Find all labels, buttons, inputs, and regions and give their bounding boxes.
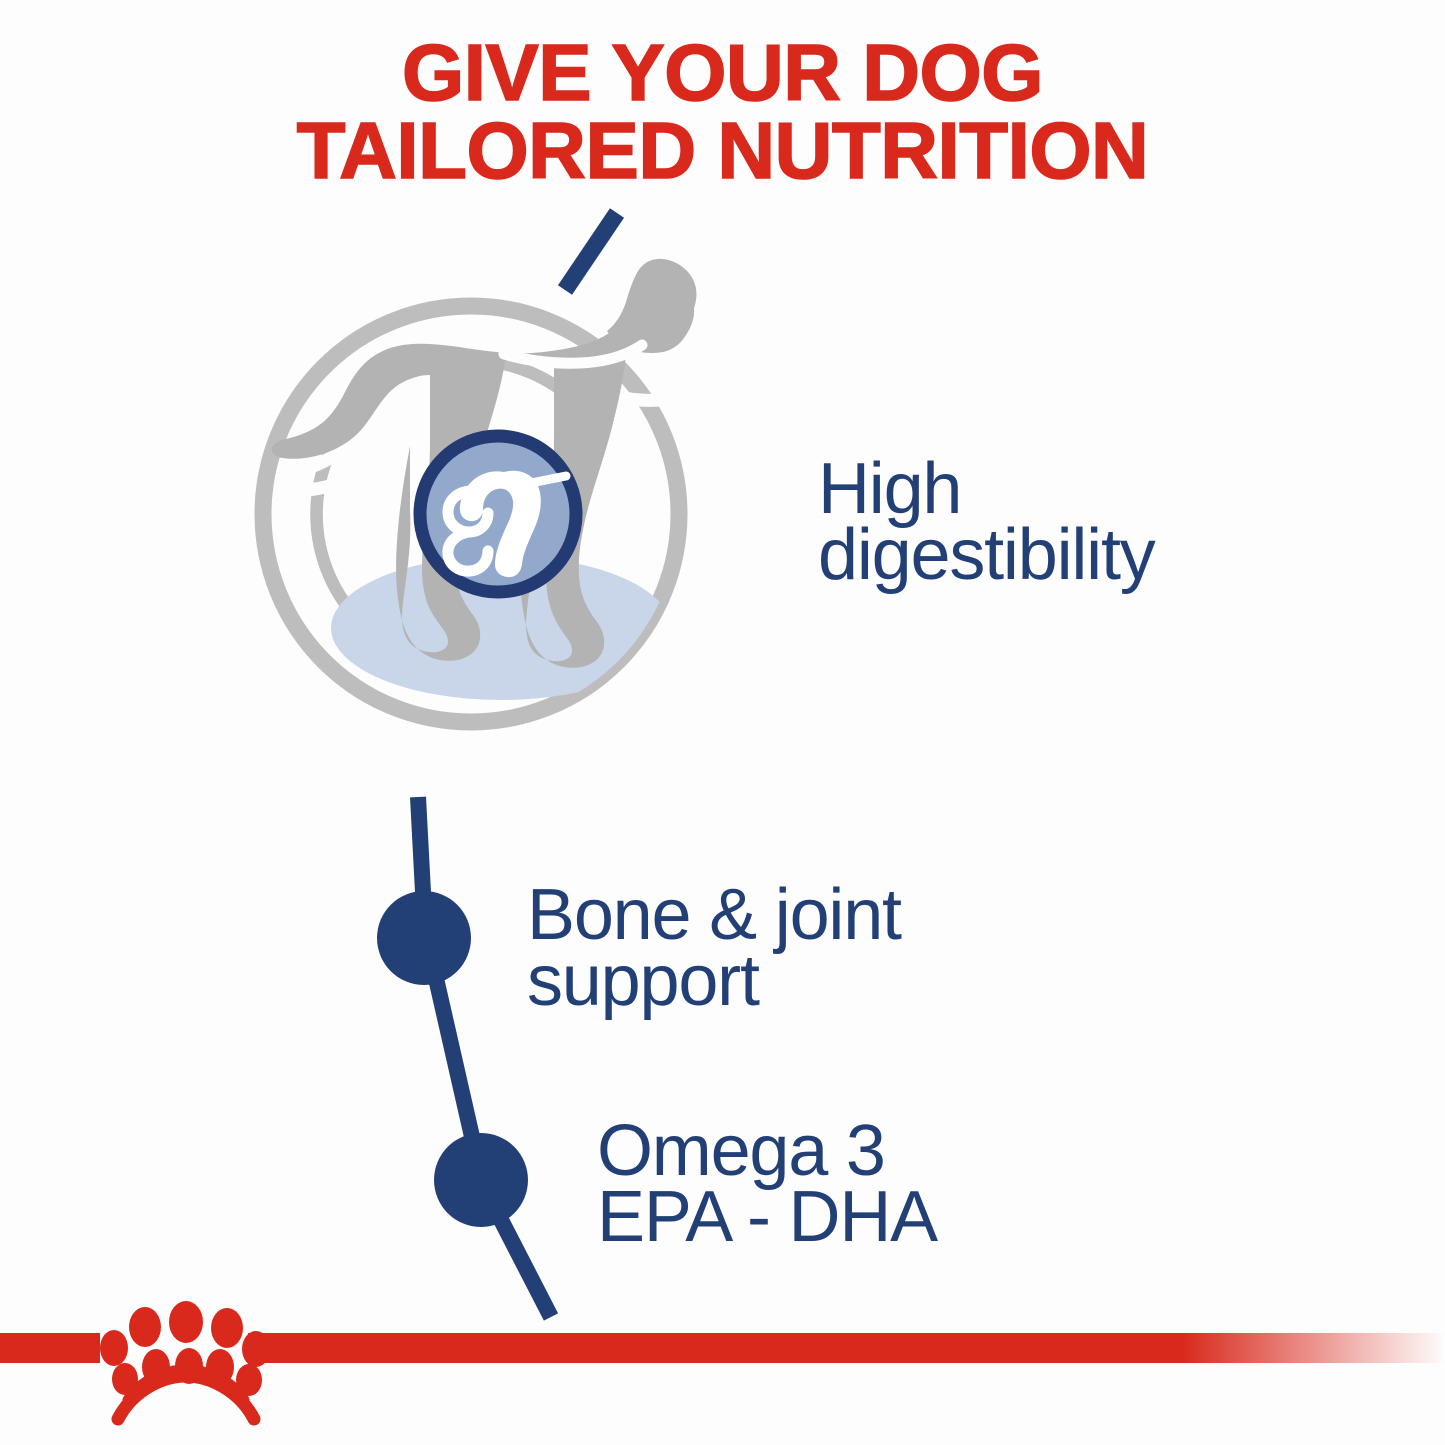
feature-line-2: digestibility — [818, 522, 1155, 588]
feature-label-omega-3: Omega 3 EPA - DHA — [597, 1118, 937, 1250]
dog-diagram — [236, 196, 756, 836]
focus-circle-digestive — [420, 436, 576, 592]
feature-line-2: support — [527, 948, 901, 1014]
crown-dot-2 — [169, 1301, 203, 1343]
crown-dot-1 — [129, 1307, 161, 1347]
crown-dot-3 — [211, 1308, 243, 1348]
connector-segment-3 — [483, 1185, 551, 1317]
feature-line-1: High — [818, 456, 1155, 522]
dog-head — [607, 259, 696, 353]
feature-label-bone-joint-support: Bone & joint support — [527, 882, 901, 1014]
footer-brand-bar — [0, 1300, 1445, 1445]
connector-segment-2 — [425, 930, 483, 1185]
headline-line-1: GIVE YOUR DOG — [0, 34, 1445, 112]
royal-canin-crown-logo — [100, 1301, 270, 1419]
brand-bar-left — [0, 1333, 100, 1363]
connector-dot-bone-joint — [377, 891, 471, 985]
brand-bar-right — [248, 1333, 1445, 1363]
headline-line-2: TAILORED NUTRITION — [0, 112, 1445, 190]
crown-dot-4 — [100, 1330, 128, 1366]
poster-root: GIVE YOUR DOG TAILORED NUTRITION — [0, 0, 1445, 1445]
feature-label-high-digestibility: High digestibility — [818, 456, 1155, 588]
feature-line-1: Bone & joint — [527, 882, 901, 948]
connector-dot-omega — [434, 1133, 528, 1227]
crown-dot-5 — [242, 1331, 270, 1367]
feature-line-1: Omega 3 — [597, 1118, 937, 1184]
page-title: GIVE YOUR DOG TAILORED NUTRITION — [0, 34, 1445, 191]
feature-line-2: EPA - DHA — [597, 1184, 937, 1250]
